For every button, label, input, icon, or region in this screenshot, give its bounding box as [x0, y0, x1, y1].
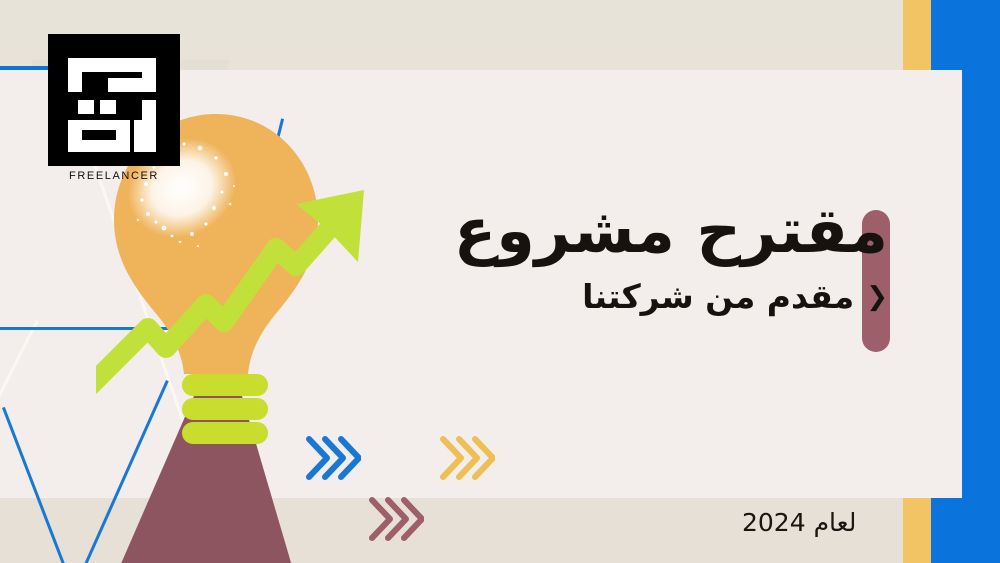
logo-wordmark: FREELANCER [48, 170, 180, 182]
brand-logo[interactable]: FREELANCER [48, 34, 180, 182]
logo-mark-icon [48, 34, 180, 166]
light-cone [120, 396, 292, 563]
chevrons-mauve [366, 494, 424, 548]
slide-canvas: FREELANCER مقترح مشروع ❮ مقدم من شركتنا … [0, 0, 1000, 563]
headline-block: مقترح مشروع ❮ مقدم من شركتنا [454, 198, 888, 316]
page-title: مقترح مشروع [454, 198, 888, 263]
subtitle-row: ❮ مقدم من شركتنا [454, 277, 888, 316]
page-subtitle: مقدم من شركتنا [582, 277, 854, 316]
chevrons-blue [303, 433, 361, 487]
chevrons-amber [437, 433, 495, 487]
chevron-left-icon: ❮ [866, 284, 888, 310]
year-label: لعام 2024 [742, 508, 856, 537]
bulb-base [182, 374, 268, 444]
